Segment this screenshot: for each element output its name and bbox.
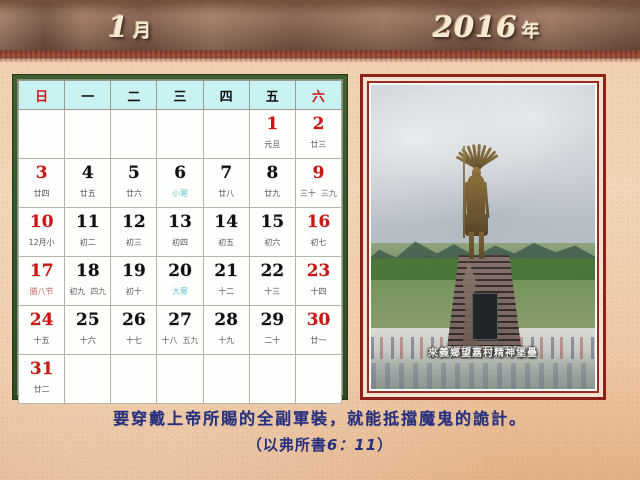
lunar-primary: 元旦 bbox=[264, 140, 280, 149]
day-number: 10 bbox=[19, 212, 64, 232]
calendar-day-cell[interactable]: 29二十 bbox=[249, 306, 295, 355]
photo-caption: 來義鄉望嘉村精神堡壘 bbox=[371, 344, 595, 359]
calendar-cell-empty bbox=[203, 355, 249, 404]
lunar-date-label: 廿一 bbox=[296, 335, 341, 346]
lunar-primary: 廿六 bbox=[126, 189, 142, 198]
lunar-primary: 廿三 bbox=[310, 140, 326, 149]
lunar-date-label: 二十 bbox=[250, 335, 295, 346]
calendar-day-cell[interactable]: 25十六 bbox=[65, 306, 111, 355]
lunar-primary: 初六 bbox=[264, 238, 280, 247]
statue-leg-right bbox=[479, 232, 484, 259]
header-band-edge bbox=[0, 50, 640, 62]
lunar-primary: 十四 bbox=[310, 287, 326, 296]
calendar-day-cell[interactable]: 30廿一 bbox=[295, 306, 341, 355]
lunar-date-label: 十七 bbox=[111, 335, 156, 346]
lunar-date-label: 十四 bbox=[296, 286, 341, 297]
calendar-table: 日 一 二 三 四 五 六 1元旦2廿三3廿四4廿五5廿六6小寒7廿八8廿九9三… bbox=[18, 80, 342, 404]
calendar-day-cell[interactable]: 28十九 bbox=[203, 306, 249, 355]
lunar-date-label: 初三 bbox=[111, 237, 156, 248]
day-number: 7 bbox=[204, 163, 249, 183]
calendar-day-cell[interactable]: 4廿五 bbox=[65, 159, 111, 208]
lunar-date-label: 大寒 bbox=[157, 286, 202, 297]
calendar-week-row: 31廿二 bbox=[19, 355, 342, 404]
lunar-date-label: 廿九 bbox=[250, 188, 295, 199]
lunar-primary: 廿一 bbox=[310, 336, 326, 345]
lunar-date-label: 十三 bbox=[250, 286, 295, 297]
statue-leg-left bbox=[469, 232, 474, 259]
lunar-primary: 12月小 bbox=[28, 238, 54, 247]
lunar-primary: 廿二 bbox=[34, 385, 50, 394]
day-number: 2 bbox=[296, 114, 341, 134]
day-number: 17 bbox=[19, 261, 64, 281]
calendar-cell-empty bbox=[111, 355, 157, 404]
lunar-primary: 十五 bbox=[34, 336, 50, 345]
calendar-day-cell[interactable]: 26十七 bbox=[111, 306, 157, 355]
day-number: 21 bbox=[204, 261, 249, 281]
calendar-day-cell[interactable]: 6小寒 bbox=[157, 159, 203, 208]
lunar-date-label: 十二 bbox=[204, 286, 249, 297]
weekday-header-wed: 三 bbox=[157, 81, 203, 110]
lunar-primary: 大寒 bbox=[172, 287, 188, 296]
calendar-day-cell[interactable]: 27十八五九 bbox=[157, 306, 203, 355]
calendar-day-cell[interactable]: 18初九四九 bbox=[65, 257, 111, 306]
lunar-date-label: 初六 bbox=[250, 237, 295, 248]
calendar-cell-empty bbox=[249, 355, 295, 404]
lunar-primary: 廿五 bbox=[80, 189, 96, 198]
calendar-day-cell[interactable]: 1012月小 bbox=[19, 208, 65, 257]
calendar-cell-empty bbox=[157, 355, 203, 404]
calendar-cell-empty bbox=[295, 355, 341, 404]
calendar-day-cell[interactable]: 31廿二 bbox=[19, 355, 65, 404]
lunar-date-label: 初七 bbox=[296, 237, 341, 248]
lunar-primary: 初十 bbox=[126, 287, 142, 296]
calendar-day-cell[interactable]: 2廿三 bbox=[295, 110, 341, 159]
calendar-day-cell[interactable]: 3廿四 bbox=[19, 159, 65, 208]
lunar-primary: 廿四 bbox=[34, 189, 50, 198]
calendar-day-cell[interactable]: 21十二 bbox=[203, 257, 249, 306]
lunar-primary: 十八 bbox=[161, 336, 177, 345]
lunar-date-label: 廿五 bbox=[65, 188, 110, 199]
lunar-date-label: 廿六 bbox=[111, 188, 156, 199]
photo-inner-border: 來義鄉望嘉村精神堡壘 bbox=[367, 81, 599, 393]
calendar-body: 1元旦2廿三3廿四4廿五5廿六6小寒7廿八8廿九9三十三九1012月小11初二1… bbox=[19, 110, 342, 404]
calendar-week-row: 3廿四4廿五5廿六6小寒7廿八8廿九9三十三九 bbox=[19, 159, 342, 208]
verse-reference-open: （以弗所書 bbox=[247, 436, 327, 454]
calendar-day-cell[interactable]: 24十五 bbox=[19, 306, 65, 355]
day-number: 13 bbox=[157, 212, 202, 232]
calendar-day-cell[interactable]: 14初五 bbox=[203, 208, 249, 257]
calendar-day-cell[interactable]: 7廿八 bbox=[203, 159, 249, 208]
day-number: 27 bbox=[157, 310, 202, 330]
calendar-day-cell[interactable]: 11初二 bbox=[65, 208, 111, 257]
calendar-cell-empty bbox=[65, 110, 111, 159]
lunar-date-label: 三十三九 bbox=[296, 188, 341, 199]
calendar-day-cell[interactable]: 5廿六 bbox=[111, 159, 157, 208]
lunar-primary: 小寒 bbox=[172, 189, 188, 198]
page-title-month: 1月 bbox=[108, 10, 152, 44]
lunar-date-label: 十八五九 bbox=[157, 335, 202, 346]
month-label: 月 bbox=[133, 21, 152, 42]
lunar-primary: 初四 bbox=[172, 238, 188, 247]
lunar-primary: 廿九 bbox=[264, 189, 280, 198]
day-number: 3 bbox=[19, 163, 64, 183]
lunar-date-label: 初十 bbox=[111, 286, 156, 297]
calendar-day-cell[interactable]: 23十四 bbox=[295, 257, 341, 306]
day-number: 14 bbox=[204, 212, 249, 232]
calendar-cell-empty bbox=[111, 110, 157, 159]
calendar-day-cell[interactable]: 8廿九 bbox=[249, 159, 295, 208]
calendar-frame: 日 一 二 三 四 五 六 1元旦2廿三3廿四4廿五5廿六6小寒7廿八8廿九9三… bbox=[12, 74, 348, 400]
lunar-date-label: 小寒 bbox=[157, 188, 202, 199]
lunar-primary: 二十 bbox=[264, 336, 280, 345]
calendar-page: 1月 2016年 日 一 二 三 四 五 六 1元旦2廿三3廿四4廿五5 bbox=[0, 0, 640, 480]
calendar-week-row: 17腊八节18初九四九19初十20大寒21十二22十三23十四 bbox=[19, 257, 342, 306]
statue-spear bbox=[463, 146, 466, 238]
lunar-date-label: 初四 bbox=[157, 237, 202, 248]
lunar-primary: 十七 bbox=[126, 336, 142, 345]
calendar-day-cell[interactable]: 22十三 bbox=[249, 257, 295, 306]
lunar-date-label: 十五 bbox=[19, 335, 64, 346]
lunar-primary: 初七 bbox=[310, 238, 326, 247]
day-number: 9 bbox=[296, 163, 341, 183]
day-number: 15 bbox=[250, 212, 295, 232]
day-number: 1 bbox=[250, 114, 295, 134]
day-number: 25 bbox=[65, 310, 110, 330]
day-number: 30 bbox=[296, 310, 341, 330]
lunar-primary: 十九 bbox=[218, 336, 234, 345]
day-number: 19 bbox=[111, 261, 156, 281]
day-number: 4 bbox=[65, 163, 110, 183]
lunar-primary: 初五 bbox=[218, 238, 234, 247]
calendar-day-cell[interactable]: 15初六 bbox=[249, 208, 295, 257]
photo-image: 來義鄉望嘉村精神堡壘 bbox=[371, 85, 595, 389]
lunar-primary: 廿八 bbox=[218, 189, 234, 198]
lunar-primary: 初三 bbox=[126, 238, 142, 247]
calendar-inner: 日 一 二 三 四 五 六 1元旦2廿三3廿四4廿五5廿六6小寒7廿八8廿九9三… bbox=[17, 79, 343, 395]
bible-verse: 要穿戴上帝所賜的全副軍裝，就能抵擋魔鬼的詭計。 （以弗所書6：11） bbox=[0, 406, 640, 458]
lunar-date-label: 廿三 bbox=[296, 139, 341, 150]
weekday-header-mon: 一 bbox=[65, 81, 111, 110]
calendar-cell-empty bbox=[157, 110, 203, 159]
calendar-day-cell[interactable]: 9三十三九 bbox=[295, 159, 341, 208]
lunar-date-label: 廿四 bbox=[19, 188, 64, 199]
calendar-day-cell[interactable]: 13初四 bbox=[157, 208, 203, 257]
header-band bbox=[0, 0, 640, 56]
photo-frame: 來義鄉望嘉村精神堡壘 bbox=[360, 74, 606, 400]
lunar-date-label: 腊八节 bbox=[19, 286, 64, 297]
calendar-cell-empty bbox=[19, 110, 65, 159]
lunar-secondary: 五九 bbox=[182, 336, 198, 345]
lunar-primary: 十六 bbox=[80, 336, 96, 345]
day-number: 23 bbox=[296, 261, 341, 281]
calendar-day-cell[interactable]: 16初七 bbox=[295, 208, 341, 257]
day-number: 20 bbox=[157, 261, 202, 281]
warrior-statue bbox=[457, 158, 495, 258]
lunar-date-label: 初九四九 bbox=[65, 286, 110, 297]
calendar-day-cell[interactable]: 19初十 bbox=[111, 257, 157, 306]
day-number: 29 bbox=[250, 310, 295, 330]
day-number: 12 bbox=[111, 212, 156, 232]
weekday-header-sun: 日 bbox=[19, 81, 65, 110]
lunar-date-label: 十六 bbox=[65, 335, 110, 346]
lunar-primary: 初九 bbox=[69, 287, 85, 296]
photo-pedestal-niche bbox=[472, 293, 499, 341]
weekday-header-row: 日 一 二 三 四 五 六 bbox=[19, 81, 342, 110]
lunar-primary: 十三 bbox=[264, 287, 280, 296]
lunar-date-label: 12月小 bbox=[19, 237, 64, 248]
lunar-secondary: 三九 bbox=[321, 189, 337, 198]
calendar-day-cell[interactable]: 12初三 bbox=[111, 208, 157, 257]
calendar-day-cell[interactable]: 1元旦 bbox=[249, 110, 295, 159]
weekday-header-thu: 四 bbox=[203, 81, 249, 110]
calendar-cell-empty bbox=[203, 110, 249, 159]
day-number: 18 bbox=[65, 261, 110, 281]
lunar-primary: 十二 bbox=[218, 287, 234, 296]
verse-reference-close: ） bbox=[377, 436, 393, 454]
year-number: 2016 bbox=[433, 10, 518, 44]
day-number: 28 bbox=[204, 310, 249, 330]
lunar-primary: 初二 bbox=[80, 238, 96, 247]
lunar-date-label: 廿八 bbox=[204, 188, 249, 199]
verse-reference-number: 6：11 bbox=[327, 436, 377, 454]
day-number: 31 bbox=[19, 359, 64, 379]
day-number: 26 bbox=[111, 310, 156, 330]
day-number: 5 bbox=[111, 163, 156, 183]
lunar-date-label: 十九 bbox=[204, 335, 249, 346]
day-number: 6 bbox=[157, 163, 202, 183]
day-number: 24 bbox=[19, 310, 64, 330]
lunar-secondary: 四九 bbox=[90, 287, 106, 296]
day-number: 16 bbox=[296, 212, 341, 232]
year-label: 年 bbox=[522, 21, 541, 42]
weekday-header-sat: 六 bbox=[295, 81, 341, 110]
day-number: 11 bbox=[65, 212, 110, 232]
weekday-header-fri: 五 bbox=[249, 81, 295, 110]
lunar-date-label: 初五 bbox=[204, 237, 249, 248]
calendar-week-row: 1012月小11初二12初三13初四14初五15初六16初七 bbox=[19, 208, 342, 257]
verse-reference: （以弗所書6：11） bbox=[0, 432, 640, 458]
lunar-date-label: 初二 bbox=[65, 237, 110, 248]
verse-line-1: 要穿戴上帝所賜的全副軍裝，就能抵擋魔鬼的詭計。 bbox=[0, 406, 640, 432]
lunar-primary: 三十 bbox=[300, 189, 316, 198]
calendar-day-cell[interactable]: 20大寒 bbox=[157, 257, 203, 306]
weekday-header-tue: 二 bbox=[111, 81, 157, 110]
day-number: 8 bbox=[250, 163, 295, 183]
calendar-day-cell[interactable]: 17腊八节 bbox=[19, 257, 65, 306]
day-number: 22 bbox=[250, 261, 295, 281]
page-title-year: 2016年 bbox=[433, 10, 541, 44]
lunar-date-label: 元旦 bbox=[250, 139, 295, 150]
lunar-primary: 腊八节 bbox=[30, 287, 54, 296]
month-number: 1 bbox=[108, 10, 129, 44]
calendar-cell-empty bbox=[65, 355, 111, 404]
calendar-week-row: 24十五25十六26十七27十八五九28十九29二十30廿一 bbox=[19, 306, 342, 355]
calendar-week-row: 1元旦2廿三 bbox=[19, 110, 342, 159]
lunar-date-label: 廿二 bbox=[19, 384, 64, 395]
